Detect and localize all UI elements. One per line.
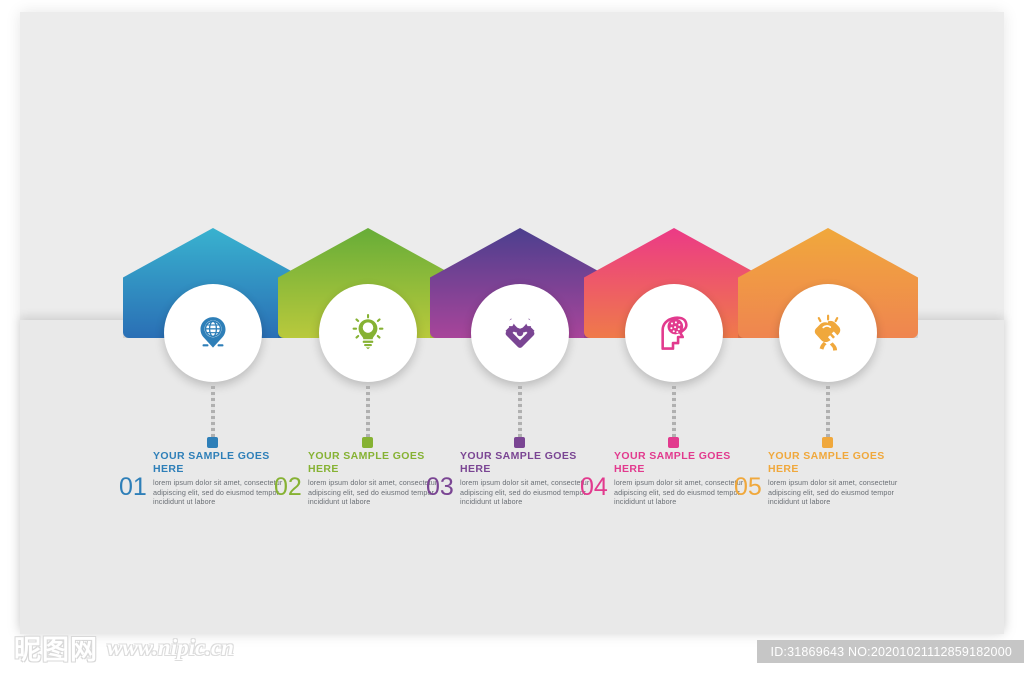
step-number-04: 04 [580,475,608,500]
step-number-01: 01 [119,475,147,500]
step-body-05: lorem ipsum dolor sit amet, consectetur … [768,478,920,507]
step-number-03: 03 [426,475,454,500]
step-connector-dot-04 [668,437,679,448]
step-connector-line-04 [672,386,676,442]
infographic-canvas: 01YOUR SAMPLE GOES HERElorem ipsum dolor… [0,0,1024,673]
step-connector-dot-02 [362,437,373,448]
steps-layer: 01YOUR SAMPLE GOES HERElorem ipsum dolor… [0,0,1024,673]
step-connector-line-01 [211,386,215,442]
step-number-02: 02 [274,475,302,500]
step-05[interactable]: 05YOUR SAMPLE GOES HERElorem ipsum dolor… [730,0,926,673]
step-icon-circle-05[interactable] [779,284,877,382]
step-icon-circle-02[interactable] [319,284,417,382]
step-connector-dot-05 [822,437,833,448]
step-connector-dot-01 [207,437,218,448]
lightbulb-idea-icon [348,313,388,353]
watermark-logo-text: 昵图网 [14,628,98,667]
watermark: 昵图网 www.nipic.cn [14,628,234,667]
location-pin-globe-icon [193,313,233,353]
step-icon-circle-01[interactable] [164,284,262,382]
step-connector-line-05 [826,386,830,442]
step-connector-line-03 [518,386,522,442]
step-number-05: 05 [734,475,762,500]
watermark-url-text: www.nipic.cn [107,635,234,661]
step-icon-circle-03[interactable] [471,284,569,382]
step-connector-line-02 [366,386,370,442]
step-connector-dot-03 [514,437,525,448]
step-text-block-05: 05YOUR SAMPLE GOES HERElorem ipsum dolor… [730,450,926,530]
step-headline-05: YOUR SAMPLE GOES HERE [768,450,918,476]
image-id-badge: ID:31869643 NO:20201021112859182000 [757,640,1024,663]
clapping-hands-icon [808,313,848,353]
head-brain-icon [654,313,694,353]
step-icon-circle-04[interactable] [625,284,723,382]
wrench-screwdriver-tools-icon [500,313,540,353]
